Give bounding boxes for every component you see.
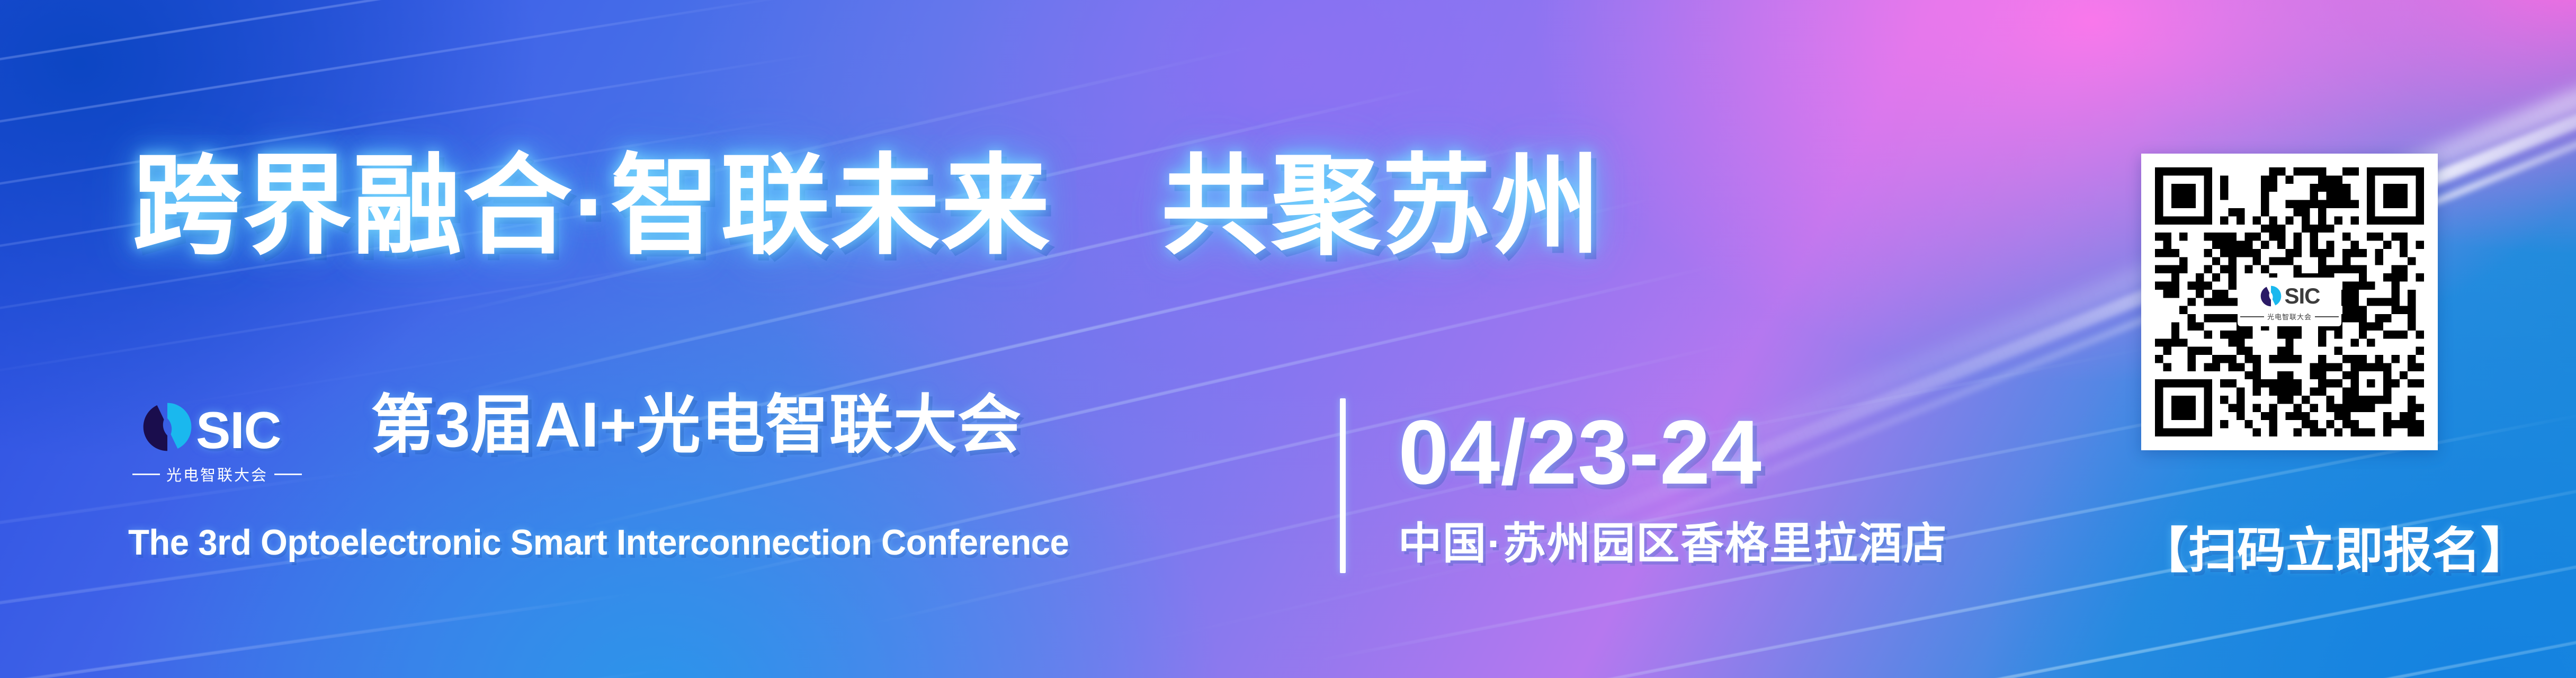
brand-logo-row: SIC (139, 392, 253, 456)
qr-center-wordmark: SIC (2284, 285, 2320, 307)
qr-center-tagline: 光电智联大会 (2267, 311, 2312, 322)
qr-caption: 【扫码立即报名】 (2140, 527, 2529, 575)
conference-name-en: The 3rd Optoelectronic Smart Interconnec… (128, 524, 1069, 560)
conference-banner: 跨界融合·智联未来 共聚苏州 SIC 光电智联大会 第3届AI+光电智联大会 T… (0, 0, 2576, 678)
qr-tagline-rule-left (2240, 316, 2264, 317)
qr-center-logo: SIC 光电智联大会 (2238, 278, 2341, 326)
brand-logo: SIC 光电智联大会 (139, 392, 253, 485)
brand-tagline-row: 光电智联大会 (132, 463, 302, 485)
qr-center-logo-row: SIC (2259, 282, 2320, 310)
osic-ring-logo-small-icon (2259, 284, 2283, 308)
conference-name-cn: 第3届AI+光电智联大会 (371, 393, 1022, 457)
osic-ring-logo-icon (139, 398, 196, 456)
tagline-rule-left (132, 474, 160, 475)
vertical-divider (1340, 398, 1346, 573)
qr-code-block[interactable]: SIC 光电智联大会 (2141, 154, 2438, 450)
tagline-rule-right (274, 474, 302, 475)
qr-code-card[interactable]: SIC 光电智联大会 (2141, 154, 2438, 450)
qr-center-tagline-row: 光电智联大会 (2240, 311, 2339, 322)
qr-tagline-rule-right (2315, 316, 2339, 317)
event-venue: 中国·苏州园区香格里拉酒店 (1398, 522, 1947, 566)
brand-wordmark: SIC (196, 405, 281, 456)
event-date: 04/23-24 (1398, 407, 1762, 498)
headline-slogan: 跨界融合·智联未来 共聚苏州 (132, 151, 1602, 261)
brand-tagline: 光电智联大会 (166, 463, 268, 485)
